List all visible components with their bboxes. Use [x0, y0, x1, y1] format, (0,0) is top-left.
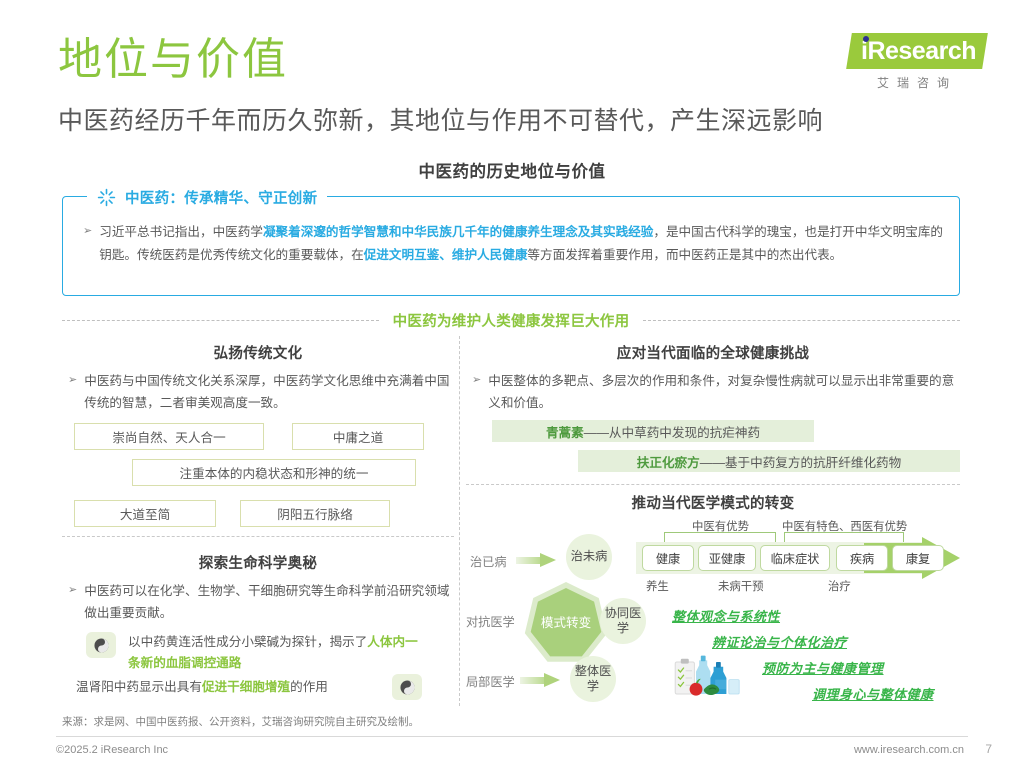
transform-arrow-icon — [520, 673, 560, 687]
achievement-bar: 扶正化瘀方——基于中药复方的抗肝纤维化药物 — [578, 450, 960, 472]
logo-wordmark: iResearch — [861, 36, 985, 66]
logo-subtext: 艾瑞咨询 — [849, 74, 985, 91]
transform-circle-label: 治未病 — [571, 549, 608, 564]
main-heading: 中医药的历史地位与价值 — [0, 158, 1024, 182]
left-bottom-item-1: 以中药黄连活性成分小檗碱为探针，揭示了人体内一条新的血脂调控通路 — [128, 632, 428, 674]
yinyang-badge — [392, 674, 422, 700]
transform-left-label: 对抗医学 — [466, 612, 515, 630]
stage-box[interactable]: 临床症状 — [760, 545, 830, 571]
section-divider-text: 中医药为维护人类健康发挥巨大作用 — [393, 310, 630, 331]
transform-circle: 协同医学 — [600, 598, 646, 644]
callout-text-3: 等方面发挥着重要作用，而中医药正是其中的杰出代表。 — [527, 248, 842, 262]
transform-circle: 治未病 — [566, 534, 612, 580]
yinyang-badge — [86, 632, 116, 658]
slide-root: 地位与价值 中医药经历千年而历久弥新，其地位与作用不可替代，产生深远影响 iRe… — [0, 0, 1024, 768]
page-number: 7 — [985, 742, 992, 756]
left-bottom-item2-pre: 温肾阳中药显示出具有 — [76, 680, 202, 694]
tag-box[interactable]: 阴阳五行脉络 — [240, 500, 390, 527]
callout-body: ➢ 习近平总书记指出，中医药学凝聚着深邃的哲学智慧和中华民族几千年的健康养生理念… — [83, 221, 943, 268]
stage-box[interactable]: 亚健康 — [698, 545, 756, 571]
transform-center-label: 模式转变 — [541, 616, 591, 632]
right-bottom-title: 推动当代医学模式的转变 — [466, 492, 960, 513]
source-note: 来源：求是网、中国中医药报、公开资料，艾瑞咨询研究院自主研究及绘制。 — [62, 714, 419, 729]
left-bottom-body-text: 中医药可以在化学、生物学、干细胞研究等生命科学前沿研究领域做出重要贡献。 — [84, 580, 450, 624]
callout-highlight-2: 促进文明互鉴、维护人民健康 — [364, 248, 528, 262]
principle-line: 预防为主与健康管理 — [762, 658, 884, 677]
page-subtitle: 中医药经历千年而历久弥新，其地位与作用不可替代，产生深远影响 — [58, 106, 823, 136]
callout-text-1: 习近平总书记指出，中医药学 — [99, 225, 263, 239]
stage-under-label: 治疗 — [828, 578, 851, 594]
achievement-bar-lead: 扶正化瘀方 — [637, 452, 700, 471]
transform-circle: 整体医学 — [570, 656, 616, 702]
column-separator — [459, 336, 460, 706]
callout-paragraph: 习近平总书记指出，中医药学凝聚着深邃的哲学智慧和中华民族几千年的健康养生理念及其… — [99, 221, 943, 268]
yin-yang-icon — [400, 680, 415, 695]
callout-box: 中医药：传承精华、守正创新 ➢ 习近平总书记指出，中医药学凝聚着深邃的哲学智慧和… — [62, 196, 960, 296]
right-top-bullet-icon: ➢ — [472, 370, 481, 414]
stage-box[interactable]: 康复 — [892, 545, 944, 571]
logo-dot-icon — [863, 36, 869, 42]
left-bottom-title: 探索生命科学奥秘 — [62, 552, 454, 573]
transform-left-label: 治已病 — [470, 552, 507, 570]
left-bottom-item1-pre: 以中药黄连活性成分小檗碱为探针，揭示了 — [128, 635, 367, 649]
callout-legend: 中医药：传承精华、守正创新 — [87, 185, 327, 209]
healthy-lifestyle-illustration-icon — [672, 646, 752, 702]
website-url[interactable]: www.iresearch.com.cn — [854, 744, 964, 756]
left-top-title: 弘扬传统文化 — [62, 342, 454, 363]
transform-left-label: 局部医学 — [466, 672, 515, 690]
left-bottom-item2-highlight: 促进干细胞增殖 — [202, 680, 290, 694]
achievement-bar-lead: 青蒿素 — [546, 422, 584, 441]
tag-box[interactable]: 注重本体的内稳状态和形神的统一 — [132, 459, 416, 486]
right-column-separator — [466, 484, 960, 485]
stage-box[interactable]: 疾病 — [836, 545, 888, 571]
stage-under-label: 未病干预 — [718, 578, 764, 594]
page-title: 地位与价值 — [58, 38, 288, 82]
tag-box[interactable]: 中庸之道 — [292, 423, 424, 450]
transform-arrow-icon — [516, 553, 556, 567]
right-top-title: 应对当代面临的全球健康挑战 — [466, 342, 960, 363]
callout-bullet-icon: ➢ — [83, 221, 92, 268]
stage-under-label: 养生 — [646, 578, 669, 594]
left-bottom-bullet-icon: ➢ — [68, 580, 77, 624]
callout-highlight-1: 凝聚着深邃的哲学智慧和中华民族几千年的健康养生理念及其实践经验 — [263, 225, 653, 239]
callout-legend-text: 中医药：传承精华、守正创新 — [125, 187, 317, 208]
divider-line-left — [62, 320, 379, 321]
principle-line: 调理身心与整体健康 — [812, 684, 934, 703]
left-bottom-item-2: 温肾阳中药显示出具有促进干细胞增殖的作用 — [76, 678, 386, 697]
transform-circle-label: 协同医学 — [600, 606, 646, 637]
yin-yang-icon — [94, 638, 109, 653]
left-top-bullet-icon: ➢ — [68, 370, 77, 414]
section-divider: 中医药为维护人类健康发挥巨大作用 — [62, 310, 960, 330]
transform-circle-label: 整体医学 — [570, 664, 616, 695]
right-top-body-text: 中医整体的多靶点、多层次的作用和条件，对复杂慢性病就可以显示出非常重要的意义和价… — [488, 370, 958, 414]
right-top-body: ➢ 中医整体的多靶点、多层次的作用和条件，对复杂慢性病就可以显示出非常重要的意义… — [472, 370, 958, 414]
footer-rule — [56, 736, 968, 737]
achievement-bar-rest: ——基于中药复方的抗肝纤维化药物 — [700, 452, 902, 471]
iresearch-logo: iResearch 艾瑞咨询 — [839, 33, 989, 95]
left-bottom-item2-post: 的作用 — [290, 680, 328, 694]
health-stage-band: 健康 亚健康 临床症状 疾病 康复 — [636, 542, 960, 574]
divider-line-right — [643, 320, 960, 321]
left-bottom-body: ➢ 中医药可以在化学、生物学、干细胞研究等生命科学前沿研究领域做出重要贡献。 — [68, 580, 450, 624]
left-column-separator — [62, 536, 454, 537]
achievement-bar-rest: ——从中草药中发现的抗疟神药 — [584, 422, 760, 441]
left-top-body-text: 中医药与中国传统文化关系深厚，中医药学文化思维中充满着中国传统的智慧，二者审美观… — [84, 370, 450, 414]
tag-box[interactable]: 崇尚自然、天人合一 — [74, 423, 264, 450]
stage-box[interactable]: 健康 — [642, 545, 694, 571]
copyright-text: ©2025.2 iResearch Inc — [56, 744, 168, 756]
achievement-bar: 青蒿素——从中草药中发现的抗疟神药 — [492, 420, 814, 442]
left-top-body: ➢ 中医药与中国传统文化关系深厚，中医药学文化思维中充满着中国传统的智慧，二者审… — [68, 370, 450, 414]
principle-line: 整体观念与系统性 — [672, 606, 780, 625]
transform-center-heptagon: 模式转变 — [530, 588, 602, 660]
tag-box[interactable]: 大道至简 — [74, 500, 216, 527]
sparkle-burst-icon — [97, 188, 116, 207]
